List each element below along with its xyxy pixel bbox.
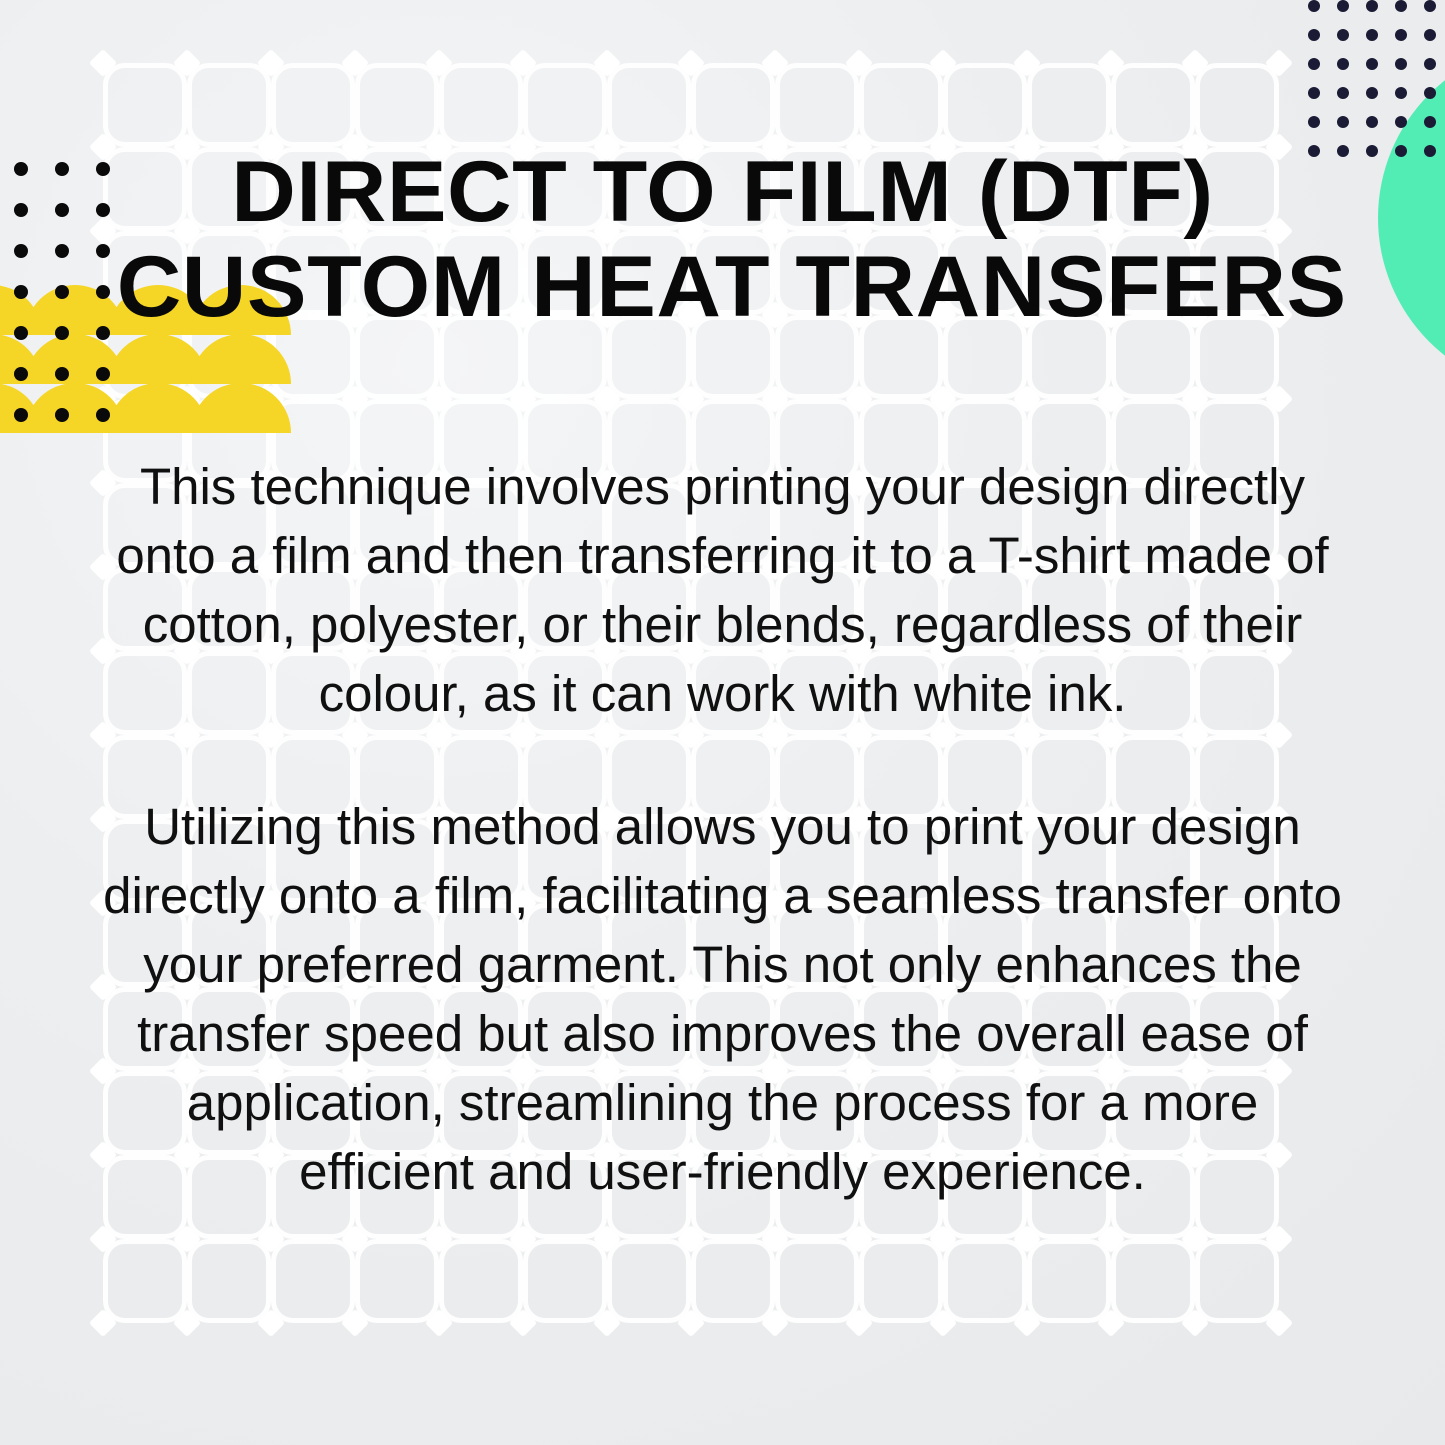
page-title-line-1: DIRECT TO FILM (DTF) (117, 145, 1329, 240)
body-paragraph-1: This technique involves printing your de… (95, 452, 1350, 728)
page-title: DIRECT TO FILM (DTF) CUSTOM HEAT TRANSFE… (117, 145, 1329, 335)
body-paragraph-2: Utilizing this method allows you to prin… (95, 792, 1350, 1206)
poster-content: DIRECT TO FILM (DTF) CUSTOM HEAT TRANSFE… (0, 0, 1445, 1445)
page-title-line-2: CUSTOM HEAT TRANSFERS (117, 240, 1329, 335)
poster-canvas: DIRECT TO FILM (DTF) CUSTOM HEAT TRANSFE… (0, 0, 1445, 1445)
